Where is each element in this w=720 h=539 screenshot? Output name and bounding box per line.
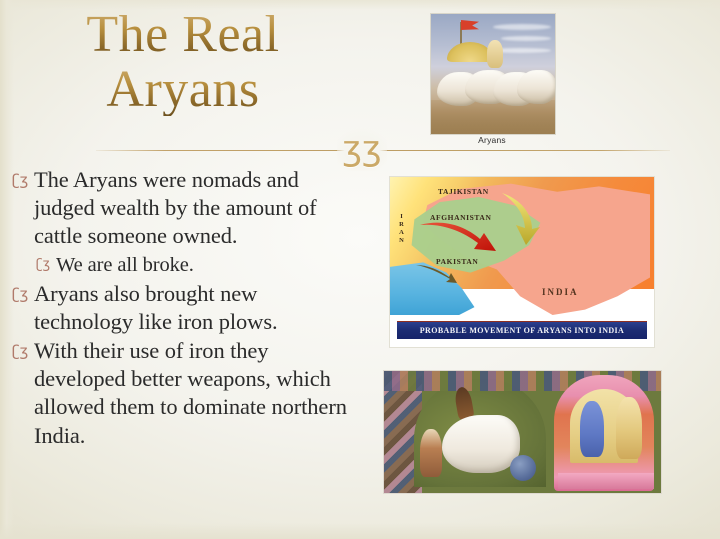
painting-warrior-figure (420, 429, 442, 477)
map-title-text: PROBABLE MOVEMENT OF ARYANS INTO INDIA (420, 326, 625, 335)
map-label-iran: IRAN (398, 213, 405, 245)
flourish-ornament-icon: ʒʒ (337, 127, 387, 171)
map-red-migration-arrow (418, 221, 500, 255)
painting-gold-figure (616, 397, 642, 459)
map-label-pakistan: PAKISTAN (436, 257, 478, 266)
sky-streak (493, 24, 551, 30)
presentation-slide: The Real Aryans ʒʒ ʗʒ The Aryans were no… (0, 0, 720, 539)
chariot-flag (461, 20, 479, 30)
slide-edge-bottom (0, 523, 720, 539)
painting-shield (510, 455, 536, 481)
bullet-item: ʗʒ The Aryans were nomads and judged wea… (10, 166, 356, 251)
slide-title: The Real Aryans (18, 8, 348, 116)
chariot-image-caption: Aryans (430, 135, 554, 145)
bullet-text: The Aryans were nomads and judged wealth… (34, 166, 356, 251)
slide-body: ʗʒ The Aryans were nomads and judged wea… (10, 166, 356, 451)
painting-plinth (558, 473, 654, 489)
map-dark-migration-arrow (414, 263, 458, 285)
aryan-migration-map-image: TAJIKISTAN AFGHANISTAN PAKISTAN INDIA IR… (389, 176, 655, 348)
bullet-text: With their use of iron they developed be… (34, 337, 356, 450)
map-label-india: INDIA (542, 287, 579, 297)
slide-title-line-2: Aryans (18, 63, 348, 116)
aryan-chariot-image (430, 13, 556, 135)
sky-streak (501, 36, 551, 41)
map-label-afghanistan: AFGHANISTAN (430, 213, 491, 222)
bullet-item: ʗʒ Aryans also brought new technology li… (10, 280, 356, 336)
bullet-text: We are all broke. (56, 252, 356, 278)
map-title-bar: PROBABLE MOVEMENT OF ARYANS INTO INDIA (397, 321, 647, 339)
bullet-item: ʗʒ With their use of iron they developed… (10, 337, 356, 450)
bullet-marker-icon: ʗʒ (10, 166, 34, 194)
bullet-marker-icon: ʗʒ (34, 252, 56, 278)
painting-white-horse (442, 415, 520, 473)
map-yellow-migration-arrow (498, 191, 542, 247)
painting-blue-figure (580, 401, 604, 457)
bullet-item-sub: ʗʒ We are all broke. (34, 252, 356, 278)
bullet-marker-icon: ʗʒ (10, 280, 34, 308)
chariot-ground (431, 100, 555, 134)
indian-miniature-painting-image (383, 370, 662, 494)
map-label-tajikistan: TAJIKISTAN (438, 187, 489, 196)
chariot-rider (487, 40, 503, 68)
slide-title-line-1: The Real (18, 8, 348, 61)
bullet-text: Aryans also brought new technology like … (34, 280, 356, 336)
bullet-marker-icon: ʗʒ (10, 337, 34, 365)
white-horse (517, 70, 556, 104)
